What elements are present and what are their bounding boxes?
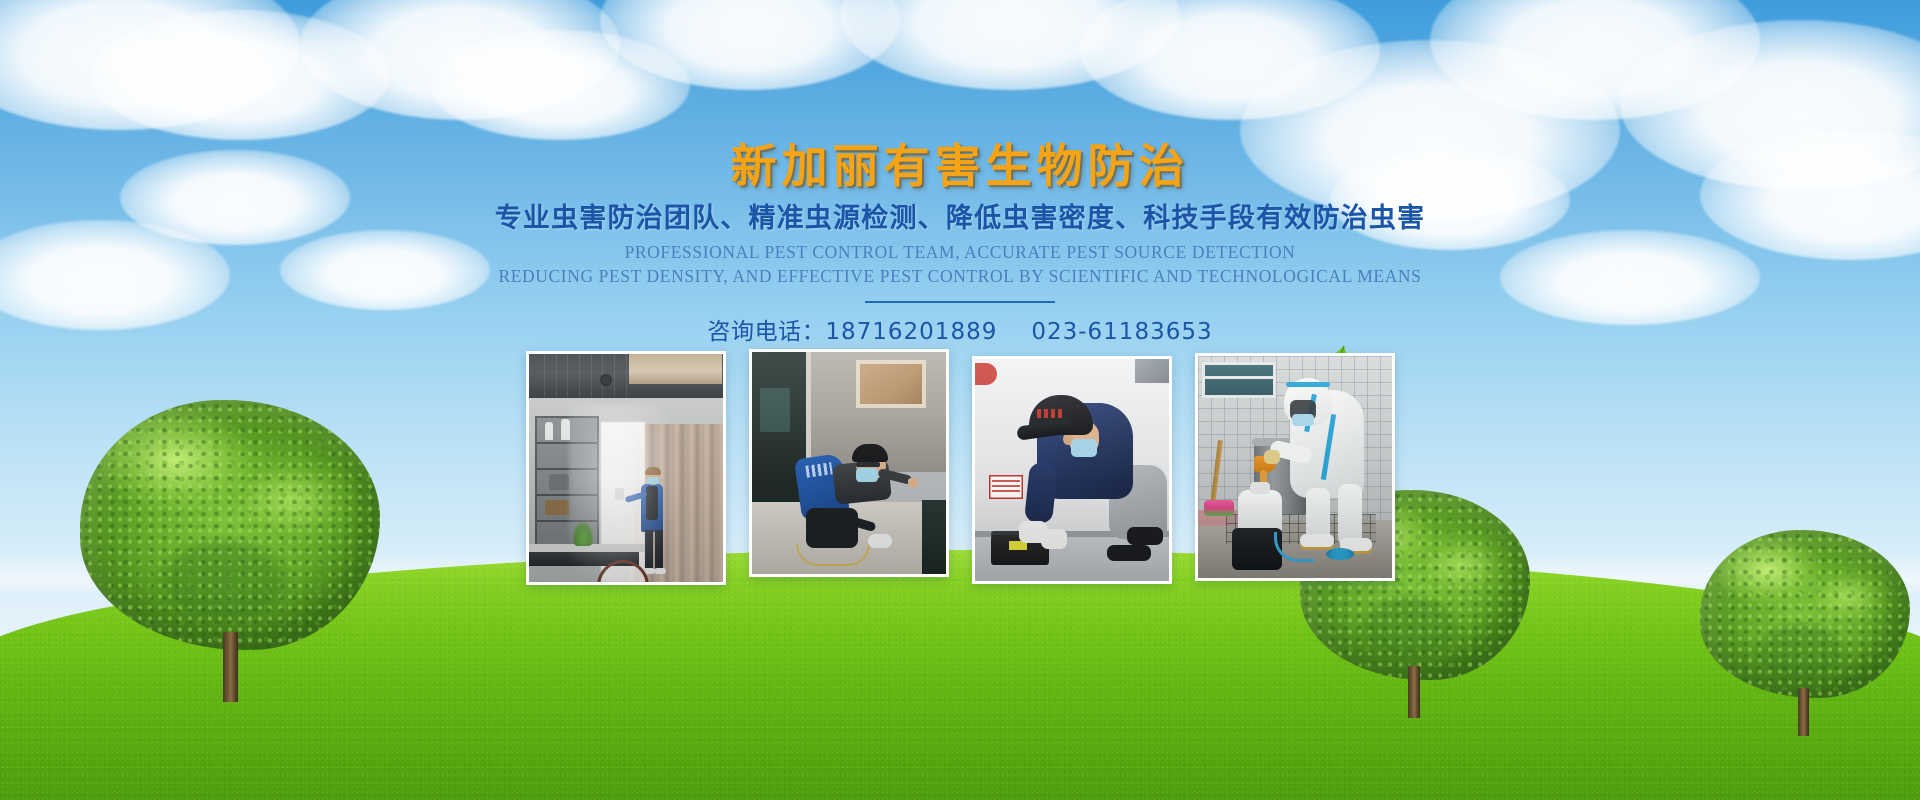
photo-hazmat-sprayer-refill[interactable] [1195, 353, 1395, 581]
photo-strip [0, 350, 1920, 585]
hero-subtitle-english-line-2: REDUCING PEST DENSITY, AND EFFECTIVE PES… [0, 266, 1920, 287]
photo-worker-floor-treatment[interactable] [749, 349, 949, 577]
photo-rodent-bait-station[interactable] [972, 356, 1172, 584]
divider [865, 301, 1055, 303]
contact-label: 咨询电话： [707, 319, 825, 345]
page-title: 新加丽有害生物防治 [0, 130, 1920, 196]
photo-indoor-curtain-spraying[interactable] [526, 351, 726, 585]
contact-phone-line: 咨询电话：18716201889023-61183653 [0, 312, 1920, 346]
contact-phone-mobile[interactable]: 18716201889 [825, 319, 997, 345]
hero-subtitle-chinese: 专业虫害防治团队、精准虫源检测、降低虫害密度、科技手段有效防治虫害 [0, 196, 1920, 235]
grass-field [0, 550, 1920, 800]
contact-phone-landline[interactable]: 023-61183653 [1031, 319, 1212, 345]
hero-subtitle-english-line-1: PROFESSIONAL PEST CONTROL TEAM, ACCURATE… [0, 242, 1920, 263]
banner-hero: 新加丽有害生物防治 专业虫害防治团队、精准虫源检测、降低虫害密度、科技手段有效防… [0, 0, 1920, 800]
